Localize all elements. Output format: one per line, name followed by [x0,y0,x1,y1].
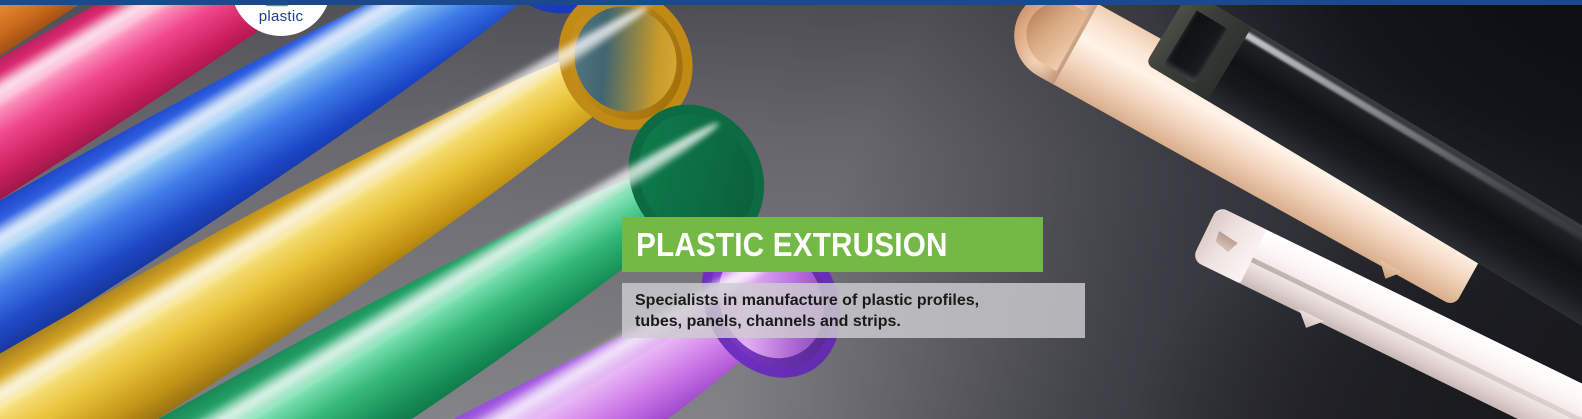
logo-wordmark: plastic [259,9,304,24]
subtitle-line-2: tubes, panels, channels and strips. [635,311,1085,332]
subtitle-line-1: Specialists in manufacture of plastic pr… [635,290,1085,311]
headline-band: PLASTIC EXTRUSION [622,217,1043,272]
hero-banner: PLASTIC EXTRUSION Specialists in manufac… [0,0,1582,419]
top-accent-bar [0,0,1582,5]
subtitle-band: Specialists in manufacture of plastic pr… [622,283,1085,338]
page-title: PLASTIC EXTRUSION [636,226,948,264]
plastic-profiles-group [1022,0,1582,419]
